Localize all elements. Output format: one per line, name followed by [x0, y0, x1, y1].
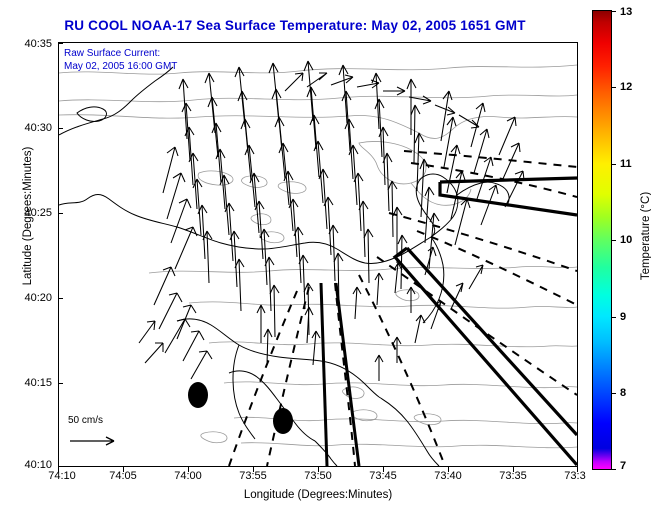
colorbar-tick-mark [612, 87, 616, 88]
x-tick-label: 74:05 [109, 470, 137, 482]
colorbar-tick-label: 7 [620, 460, 626, 472]
x-tick-label: 74:00 [174, 470, 202, 482]
y-tick-mark [58, 298, 63, 299]
map-graphics [59, 43, 577, 466]
right-arrow-icon [66, 433, 136, 449]
colorbar-tick-mark [612, 11, 616, 12]
colorbar-tick-label: 8 [620, 387, 626, 399]
map-plot-area[interactable]: Raw Surface Current: May 02, 2005 16:00 … [58, 42, 578, 467]
colorbar-tick-mark [612, 317, 616, 318]
y-tick-mark [58, 128, 63, 129]
y-tick-label: 40:15 [24, 377, 52, 389]
x-tick-label: 73:45 [369, 470, 397, 482]
x-tick-label: 73:55 [239, 470, 267, 482]
colorbar-label: Temperature (°C) [640, 156, 651, 316]
figure-title: RU COOL NOAA-17 Sea Surface Temperature:… [0, 18, 590, 33]
colorbar-tick-label: 12 [620, 81, 632, 93]
y-axis-label: Latitude (Degrees:Minutes) [22, 116, 34, 316]
colorbar-tick-label: 10 [620, 234, 632, 246]
colorbar [592, 10, 612, 470]
colorbar-tick-mark [612, 164, 616, 165]
velocity-scale-legend: 50 cm/s [64, 415, 159, 463]
colorbar-tick-label: 13 [620, 6, 632, 18]
colorbar-tick-label: 11 [620, 158, 632, 170]
y-tick-mark [58, 466, 63, 467]
y-tick-mark [58, 213, 63, 214]
x-tick-label: 73:40 [434, 470, 462, 482]
colorbar-tick-mark [612, 469, 616, 470]
scale-legend-label: 50 cm/s [68, 415, 103, 426]
x-axis-label: Longitude (Degrees:Minutes) [58, 489, 578, 501]
y-tick-mark [58, 43, 63, 44]
surface-current-vectors [139, 61, 524, 381]
colorbar-tick-label: 9 [620, 311, 626, 323]
x-tick-label: 73:50 [304, 470, 332, 482]
colorbar-tick-mark [612, 393, 616, 394]
x-tick-label: 73:35 [499, 470, 527, 482]
coastline [59, 67, 509, 466]
y-tick-label: 40:10 [24, 459, 52, 471]
radar-station-markers [188, 382, 293, 434]
x-tick-label: 73:3 [564, 470, 585, 482]
sst-map-figure: RU COOL NOAA-17 Sea Surface Temperature:… [0, 0, 651, 515]
colorbar-tick-mark [612, 240, 616, 241]
y-tick-label: 40:35 [24, 38, 52, 50]
x-tick-label: 74:10 [48, 470, 76, 482]
y-tick-mark [58, 383, 63, 384]
